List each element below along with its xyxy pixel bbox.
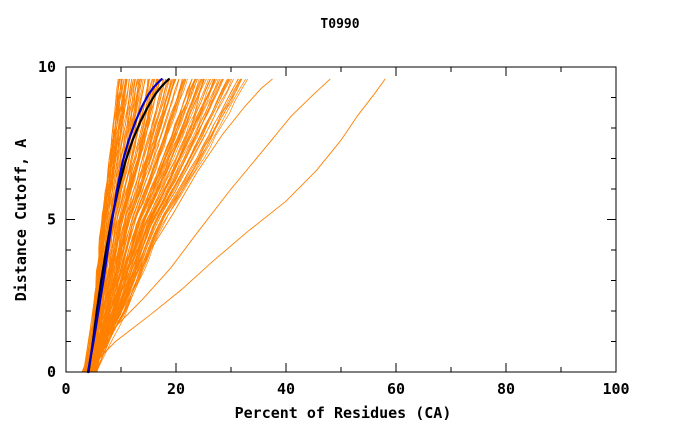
page-title: T0990 bbox=[320, 17, 359, 32]
y-axis-tick-label: 10 bbox=[38, 58, 56, 76]
y-axis-tick-label: 5 bbox=[47, 211, 56, 229]
y-axis-tick-label: 0 bbox=[47, 363, 56, 381]
x-axis-tick-label: 80 bbox=[497, 380, 515, 398]
x-axis-tick-label: 0 bbox=[61, 380, 70, 398]
x-axis-tick-label: 20 bbox=[167, 380, 185, 398]
y-axis-title: Distance Cutoff, A bbox=[12, 139, 30, 302]
x-axis-title: Percent of Residues (CA) bbox=[235, 404, 452, 422]
distance-cutoff-chart: T0990 0204060801000510 Percent of Residu… bbox=[0, 0, 680, 440]
x-axis-tick-label: 60 bbox=[387, 380, 405, 398]
plot-container: T0990 0204060801000510 Percent of Residu… bbox=[0, 0, 680, 440]
x-axis-tick-label: 100 bbox=[602, 380, 629, 398]
x-axis-tick-label: 40 bbox=[277, 380, 295, 398]
